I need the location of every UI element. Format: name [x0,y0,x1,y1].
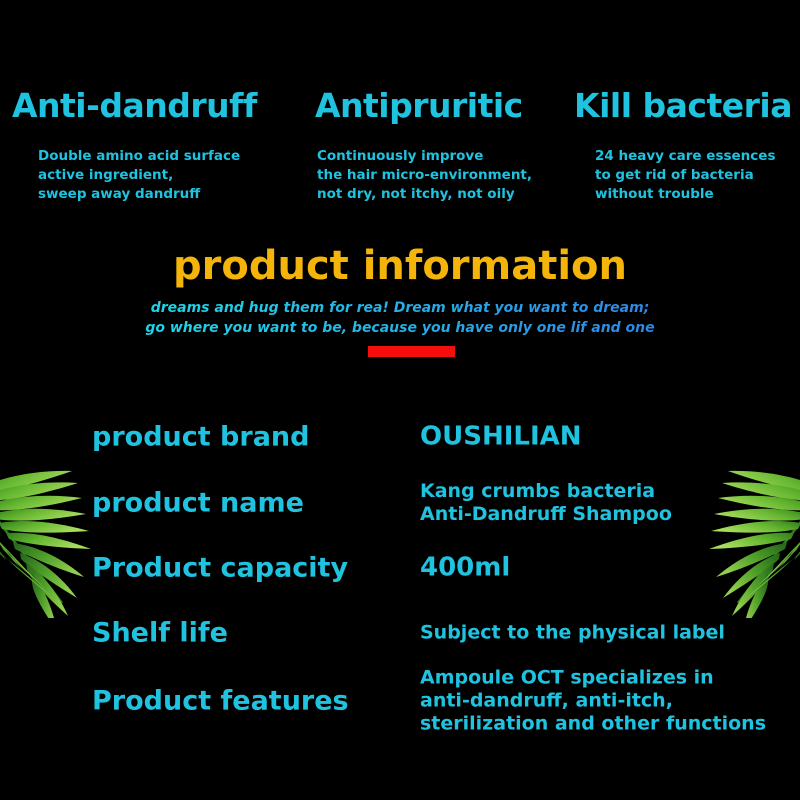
feature-title: Anti-dandruff [12,86,257,125]
spec-value: Ampoule OCT specializes in anti-dandruff… [420,667,766,736]
spec-label: product name [92,488,304,519]
feature-description: Double amino acid surface active ingredi… [38,147,240,204]
spec-label: product brand [92,422,309,453]
spec-label: Shelf life [92,618,228,649]
feature-title: Kill bacteria [574,86,792,125]
spec-label: Product capacity [92,553,348,584]
banner-title: product information [0,243,800,289]
feature-highlights-row: Anti-dandruff Double amino acid surface … [0,0,800,225]
feature-description: 24 heavy care essences to get rid of bac… [595,147,775,204]
feature-title: Antipruritic [315,86,523,125]
red-divider-bar [368,346,455,357]
spec-value: Subject to the physical label [420,622,725,645]
product-information-poster: Anti-dandruff Double amino acid surface … [0,0,800,800]
feature-description: Continuously improve the hair micro-envi… [317,147,532,204]
banner-subtitle: dreams and hug them for rea! Dream what … [0,298,800,338]
product-spec-table: product brand OUSHILIAN product name Kan… [0,400,800,800]
spec-label: Product features [92,686,349,717]
spec-value: Kang crumbs bacteria Anti-Dandruff Shamp… [420,480,672,526]
spec-value: OUSHILIAN [420,426,582,449]
spec-value: 400ml [420,557,510,580]
